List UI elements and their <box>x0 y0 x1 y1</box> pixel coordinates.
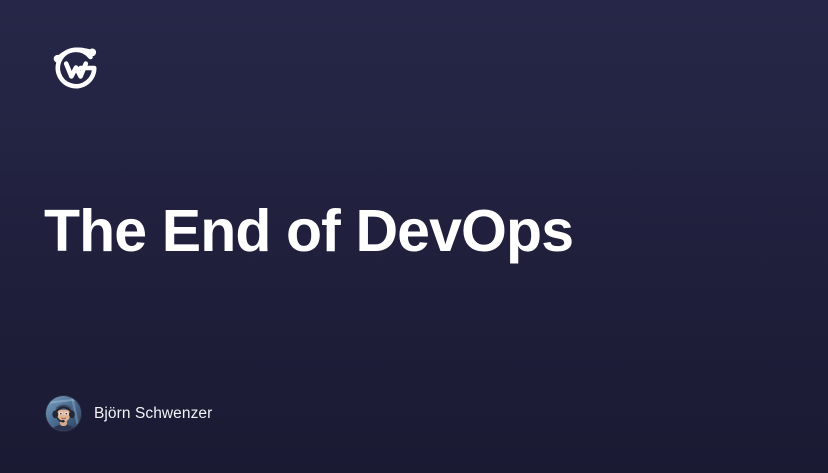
avatar <box>46 396 81 431</box>
presentation-slide: The End of DevOps <box>0 0 828 473</box>
author-block: Björn Schwenzer <box>46 396 212 431</box>
brand-logo-icon <box>50 39 102 93</box>
author-name: Björn Schwenzer <box>94 405 212 423</box>
slide-title: The End of DevOps <box>44 200 784 263</box>
